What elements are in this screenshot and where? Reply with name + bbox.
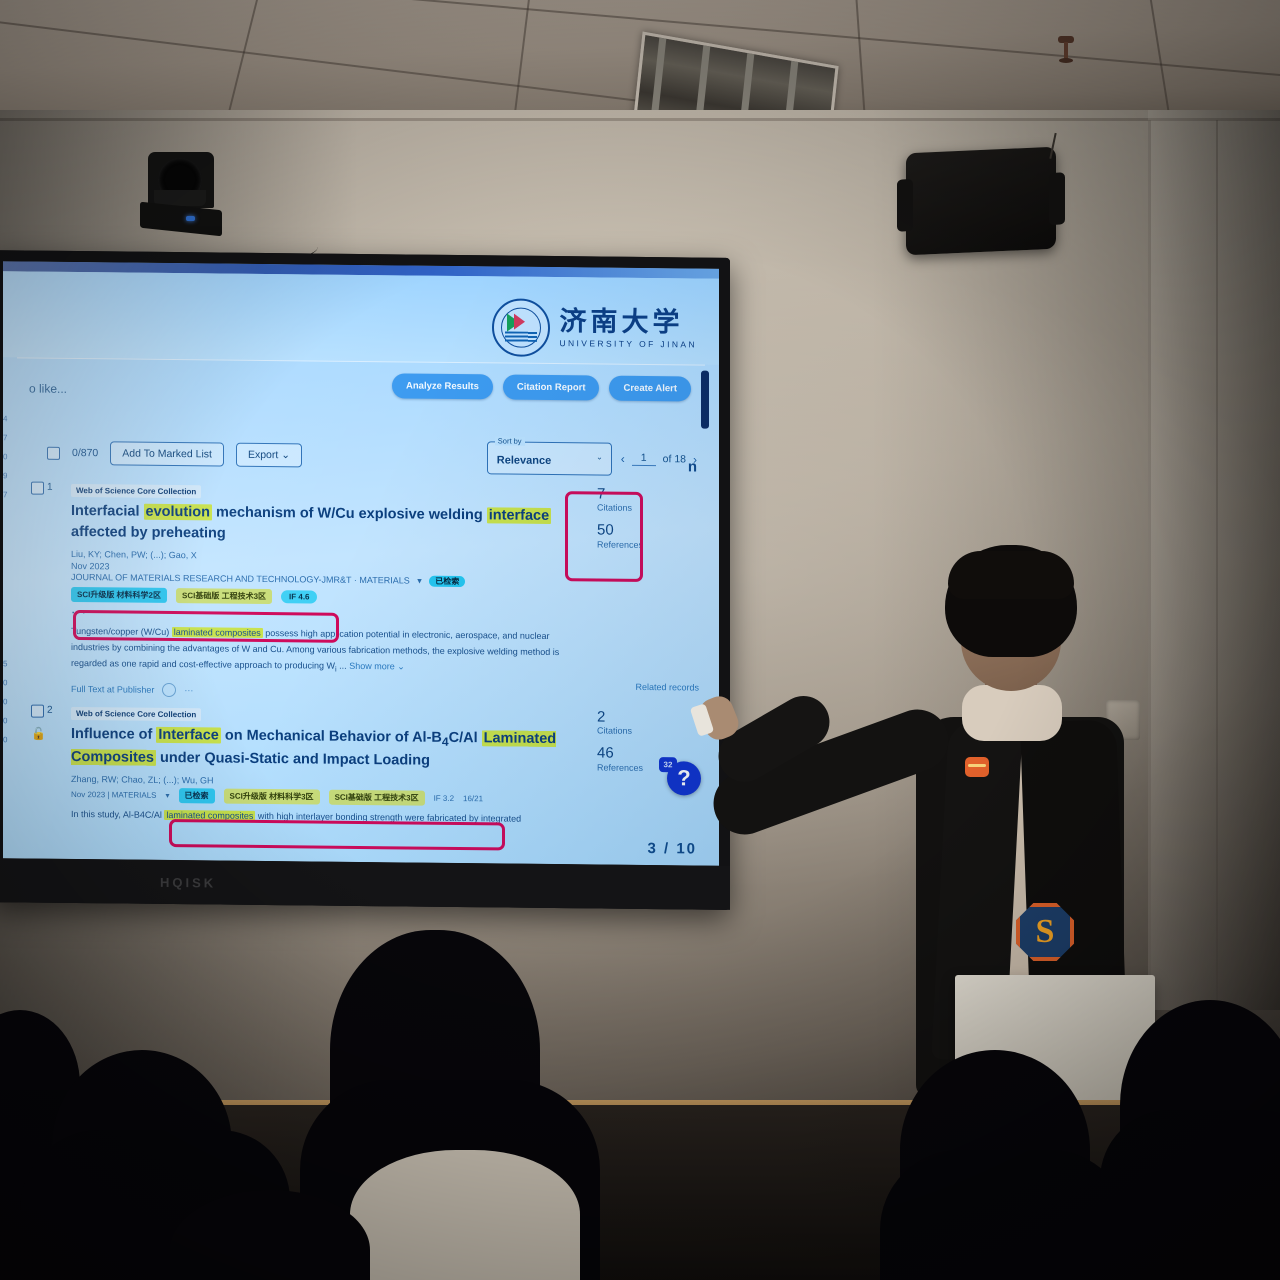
audience-hair (1100, 1110, 1280, 1280)
sprinkler-head (1058, 36, 1074, 66)
wall-display: 济南大学 UNIVERSITY OF JINAN 4 7 0 9 7 (0, 250, 730, 910)
ceiling (0, 0, 1280, 128)
jacket-chest-patch-s: S (1016, 903, 1074, 961)
lecture-hall-photo: 济南大学 UNIVERSITY OF JINAN 4 7 0 9 7 (0, 0, 1280, 1280)
display-chin: HQISK (0, 858, 730, 910)
ptz-camera (140, 152, 222, 240)
presenter-turtleneck (962, 685, 1062, 741)
tv-brand-logo: HQISK (160, 874, 216, 890)
audience-hair (880, 1150, 1130, 1280)
audience-coat (350, 1150, 580, 1280)
wall-speaker (906, 147, 1056, 256)
display-bezel (0, 250, 730, 910)
jacket-sleeve-patch (965, 757, 989, 777)
